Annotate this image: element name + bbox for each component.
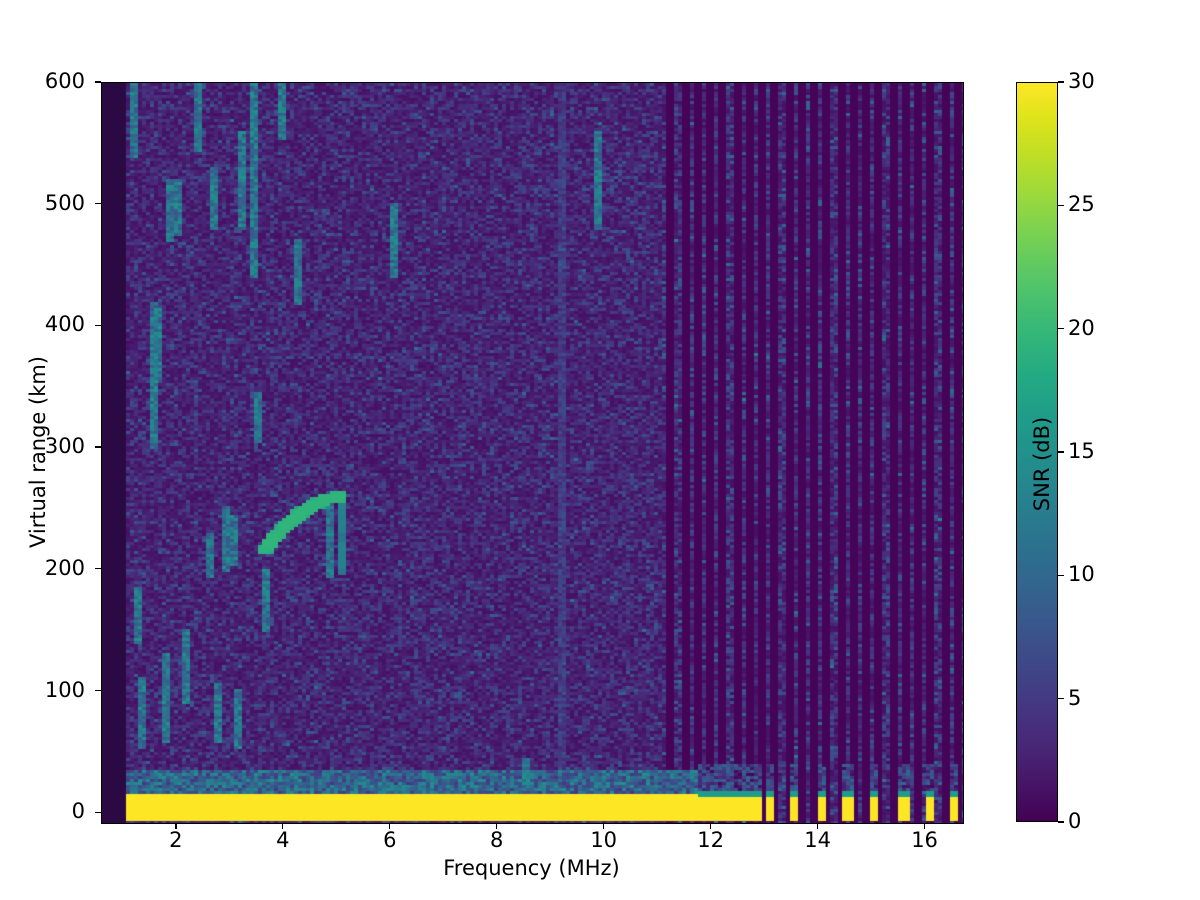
ionogram-plot-area[interactable] [101, 82, 964, 824]
colorbar-tick-mark [1058, 698, 1064, 699]
colorbar-tick-label: 30 [1068, 69, 1095, 93]
y-axis-tick-mark [95, 81, 101, 82]
ionogram-heatmap[interactable] [102, 83, 963, 823]
colorbar-tick-label: 10 [1068, 562, 1095, 586]
colorbar-tick-label: 15 [1068, 439, 1095, 463]
y-axis-tick-mark [95, 446, 101, 447]
x-axis-tick-label: 14 [788, 828, 848, 852]
x-axis-tick-label: 6 [360, 828, 420, 852]
y-axis-tick-mark [95, 568, 101, 569]
colorbar-tick-mark [1058, 81, 1064, 82]
colorbar-tick-mark [1058, 451, 1064, 452]
colorbar-tick-mark [1058, 328, 1064, 329]
colorbar-tick-mark [1058, 205, 1064, 206]
x-axis-label: Frequency (MHz) [101, 856, 962, 880]
colorbar-tick-mark [1058, 575, 1064, 576]
ionogram-figure: IRF Uppsala SDR Ionosonde UP158 2026-03-… [0, 0, 1200, 900]
colorbar-tick-mark [1058, 821, 1064, 822]
y-axis-tick-mark [95, 203, 101, 204]
x-axis-tick-label: 16 [895, 828, 955, 852]
y-axis-tick-mark [95, 812, 101, 813]
x-axis-tick-label: 2 [146, 828, 206, 852]
colorbar-tick-label: 20 [1068, 316, 1095, 340]
colorbar-tick-label: 5 [1068, 686, 1081, 710]
colorbar-tick-label: 0 [1068, 809, 1081, 833]
y-axis-tick-mark [95, 690, 101, 691]
y-axis-label: Virtual range (km) [26, 152, 50, 752]
colorbar-tick-label: 25 [1068, 192, 1095, 216]
x-axis-tick-label: 4 [253, 828, 313, 852]
y-axis-tick-label: 600 [5, 69, 85, 93]
colorbar-label: SNR (dB) [1030, 264, 1054, 664]
x-axis-tick-label: 12 [681, 828, 741, 852]
x-axis-tick-label: 8 [467, 828, 527, 852]
y-axis-tick-mark [95, 325, 101, 326]
x-axis-tick-label: 10 [574, 828, 634, 852]
y-axis-tick-label: 0 [5, 799, 85, 823]
